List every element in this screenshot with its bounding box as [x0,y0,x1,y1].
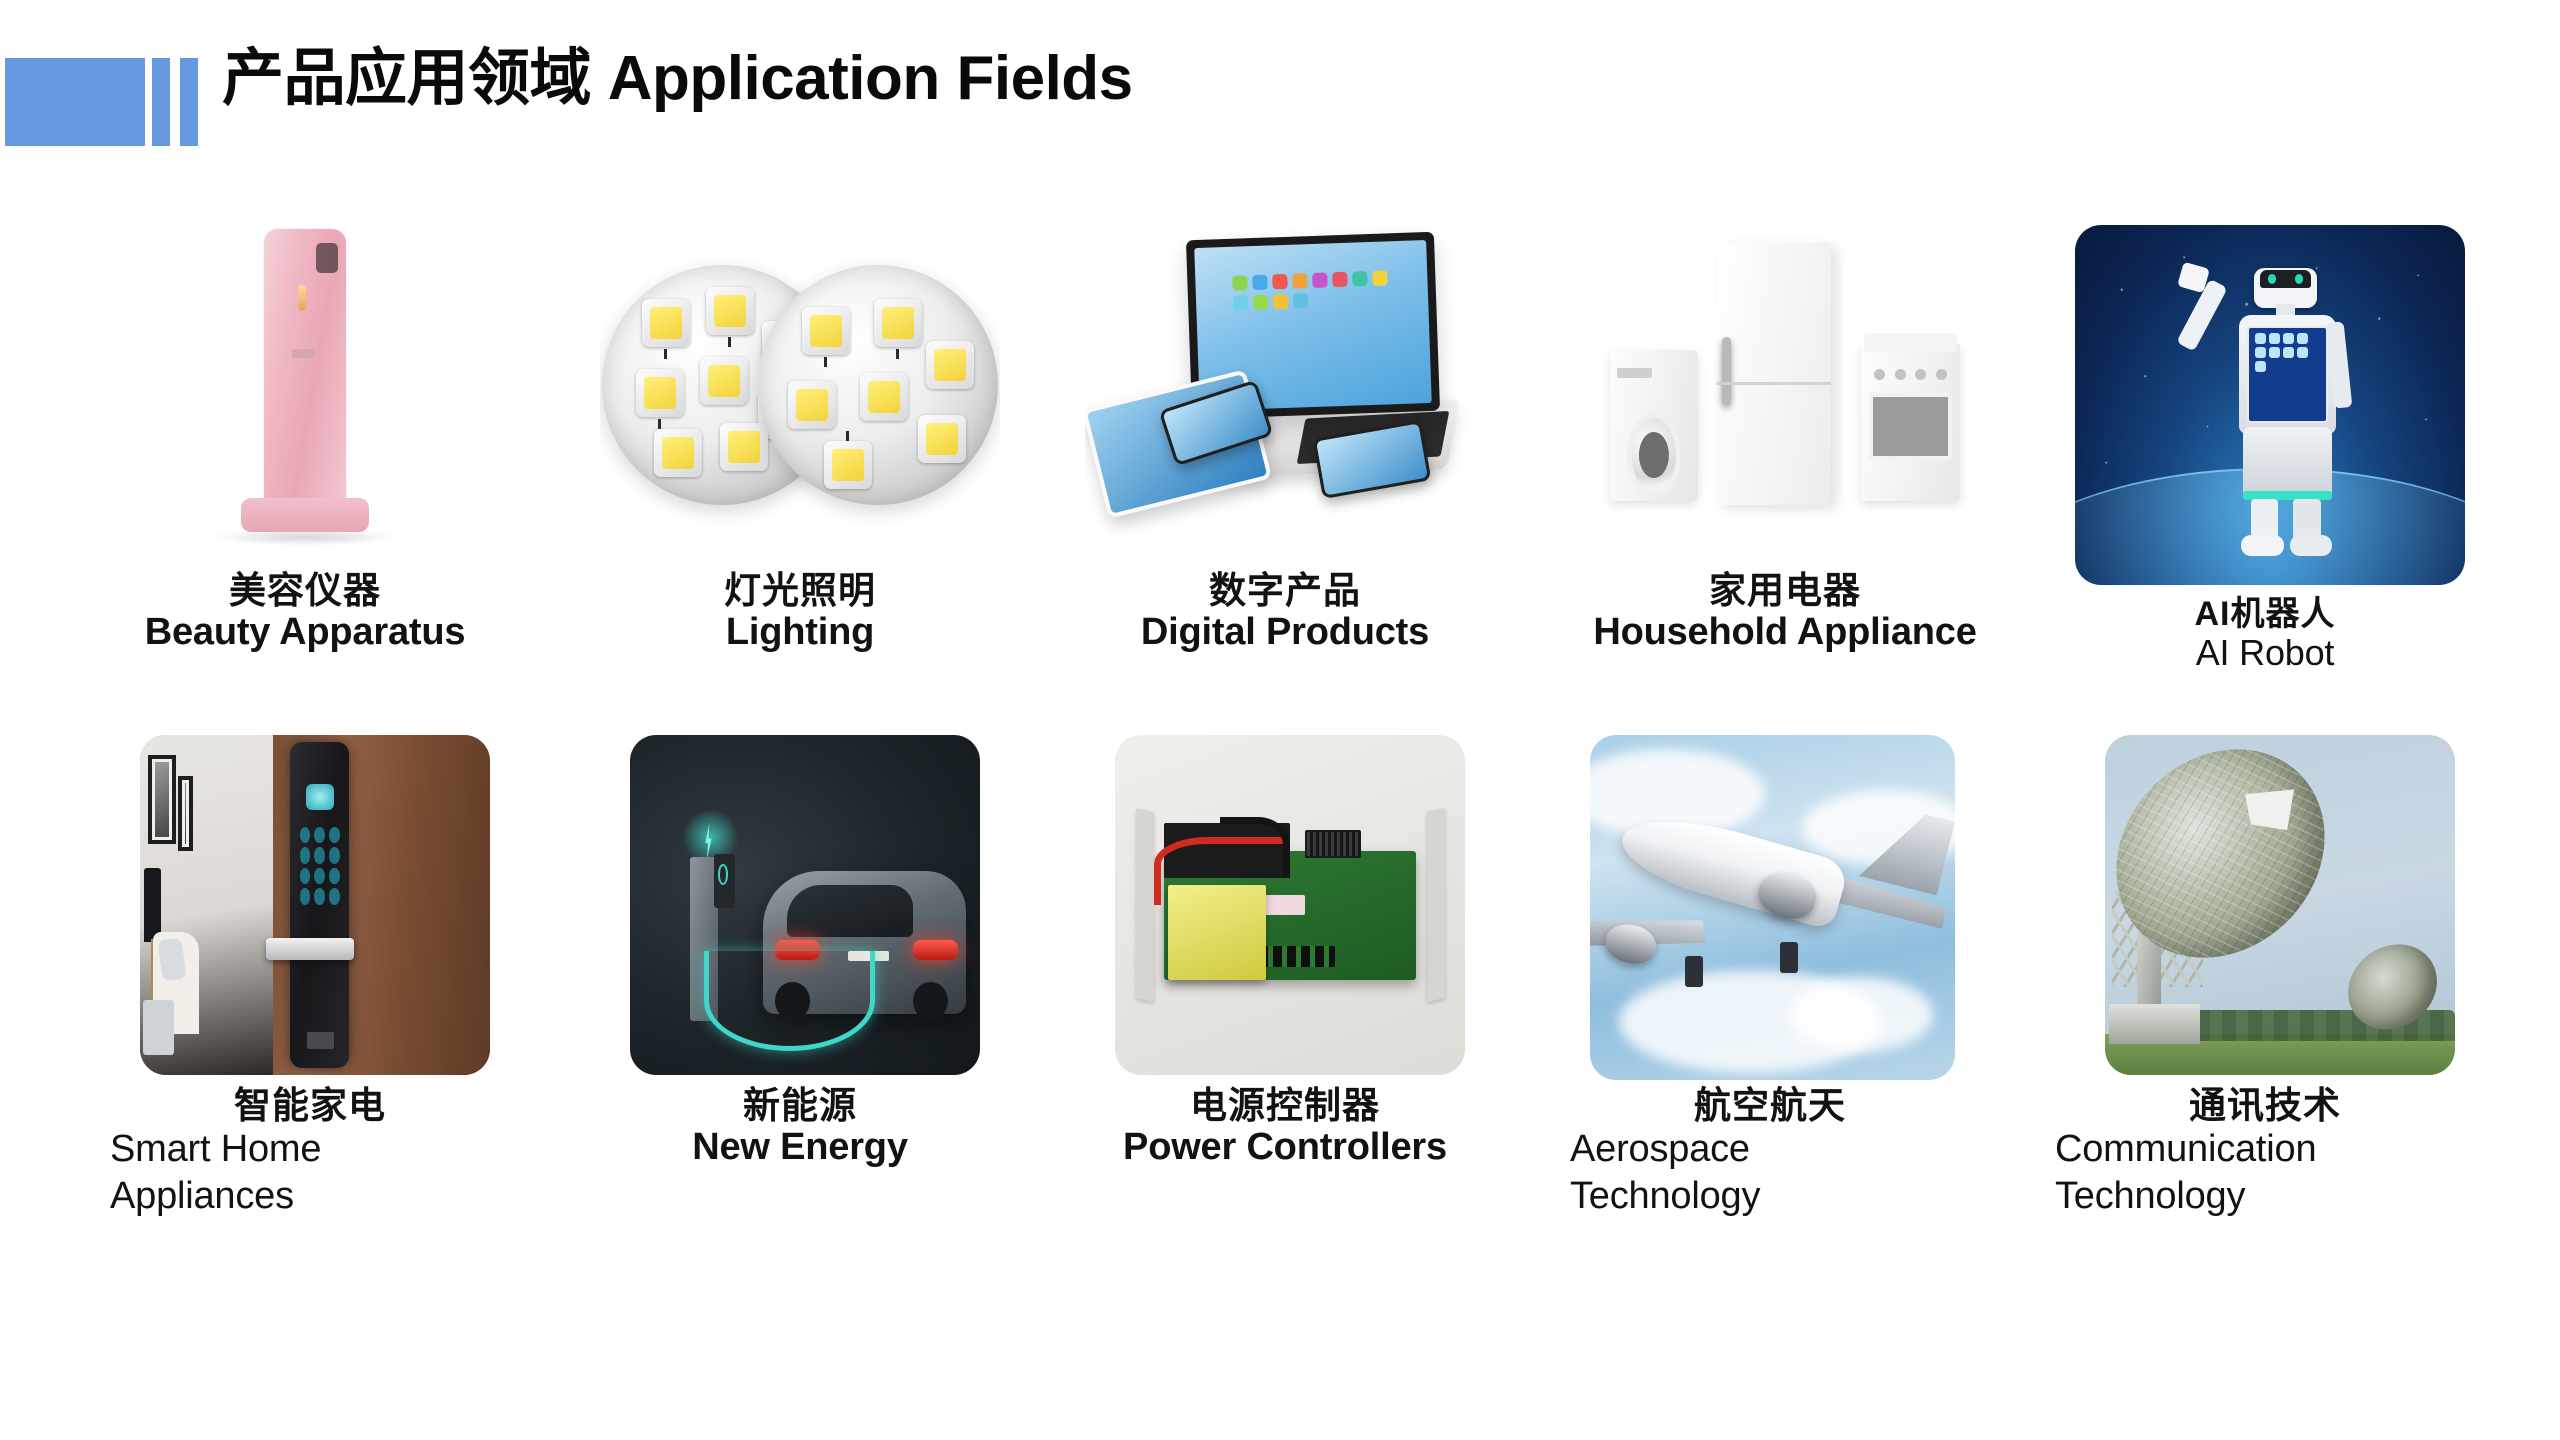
card-caption: 新能源 New Energy [600,1085,1000,1169]
smart-door-lock-image [140,735,490,1075]
card-caption: 智能家电 Smart Home Appliances [110,1085,510,1219]
card-title-en: Lighting [600,611,1000,654]
card-caption: 灯光照明 Lighting [600,570,1000,654]
card-title-en: Household Appliance [1585,611,1985,654]
card-title-cn: 美容仪器 [110,570,500,611]
card-smart-home-appliances[interactable]: 智能家电 Smart Home Appliances [110,735,510,1255]
card-title-cn: 智能家电 [110,1085,510,1126]
digital-devices-image [1085,215,1485,560]
card-title-cn: 新能源 [600,1085,1000,1126]
card-caption: 家用电器 Household Appliance [1585,570,1985,654]
card-household-appliance[interactable]: 家用电器 Household Appliance [1585,215,1985,685]
card-communication-technology[interactable]: 通讯技术 Communication Technology [2055,735,2475,1255]
card-caption: AI机器人 AI Robot [2065,595,2465,673]
card-title-cn: 家用电器 [1585,570,1985,611]
airplane-image [1590,735,1955,1080]
card-caption: 航空航天 Aerospace Technology [1570,1085,1970,1219]
application-fields-grid: 美容仪器 Beauty Apparatus [0,0,2560,1440]
ai-robot-image [2075,225,2465,585]
household-appliances-image [1595,215,1975,560]
fingerprint-sensor-icon [306,784,334,810]
card-title-cn: 数字产品 [1085,570,1485,611]
card-beauty-apparatus[interactable]: 美容仪器 Beauty Apparatus [110,215,500,685]
beauty-apparatus-image [170,215,440,560]
card-new-energy[interactable]: 新能源 New Energy [600,735,1000,1255]
card-title-en: Digital Products [1085,611,1485,654]
card-caption: 数字产品 Digital Products [1085,570,1485,654]
card-title-en: Aerospace Technology [1570,1126,1850,1219]
card-title-cn: AI机器人 [2065,595,2465,633]
card-title-cn: 灯光照明 [600,570,1000,611]
card-title-cn: 电源控制器 [1085,1085,1485,1126]
card-digital-products[interactable]: 数字产品 Digital Products [1085,215,1485,685]
card-caption: 美容仪器 Beauty Apparatus [110,570,500,654]
card-power-controllers[interactable]: 电源控制器 Power Controllers [1085,735,1485,1255]
card-title-en: AI Robot [2065,633,2465,673]
keypad-icon [300,827,340,905]
card-title-en: Communication Technology [2055,1126,2365,1219]
card-caption: 通讯技术 Communication Technology [2055,1085,2475,1219]
card-title-en: New Energy [600,1126,1000,1169]
satellite-dish-image [2105,735,2455,1075]
card-caption: 电源控制器 Power Controllers [1085,1085,1485,1169]
card-title-en: Smart Home Appliances [110,1126,400,1219]
power-control-board-image [1115,735,1465,1075]
card-title-en: Beauty Apparatus [110,611,500,654]
card-lighting[interactable]: 灯光照明 Lighting [600,215,1000,685]
ev-charging-image [630,735,980,1075]
led-lighting-image [600,225,1000,555]
card-title-en: Power Controllers [1085,1126,1485,1169]
card-ai-robot[interactable]: AI机器人 AI Robot [2065,215,2465,685]
card-aerospace-technology[interactable]: 航空航天 Aerospace Technology [1570,735,1970,1255]
card-title-cn: 通讯技术 [2055,1085,2475,1126]
card-title-cn: 航空航天 [1570,1085,1970,1126]
